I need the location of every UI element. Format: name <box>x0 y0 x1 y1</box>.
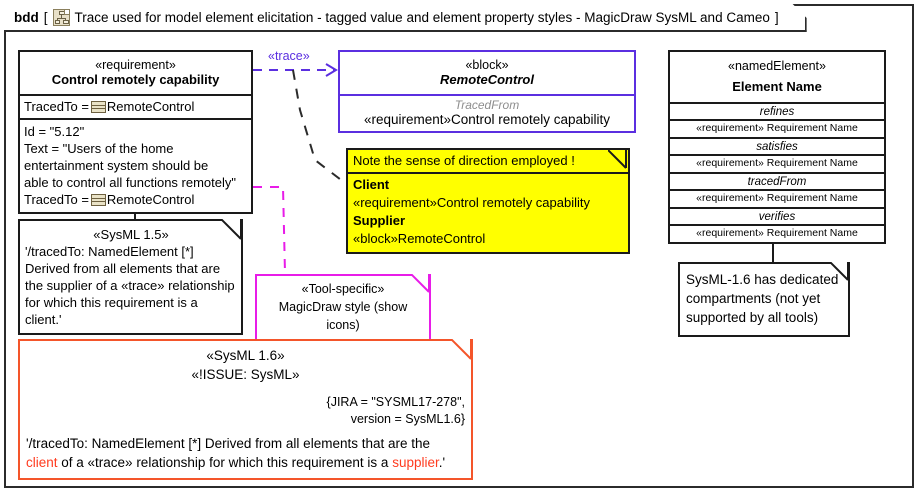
yellow-note[interactable]: Note the sense of direction employed ! C… <box>346 148 630 254</box>
note-fold-icon <box>411 274 431 294</box>
sysml15-note[interactable]: «SysML 1.5» '/tracedTo: NamedElement [*]… <box>18 219 243 335</box>
tool-note-body: «Tool-specific» MagicDraw style (show ic… <box>255 274 431 342</box>
note-fold-icon <box>221 219 243 241</box>
sysml15-line-3: the supplier of a «trace» relationship <box>25 277 237 294</box>
sysml16-title-2: «!ISSUE: SysML» <box>26 365 465 384</box>
compartment-name: satisfies <box>670 139 884 154</box>
sysml16-jira-line-2: version = SysML1.6} <box>26 411 465 428</box>
compartment-name: tracedFrom <box>670 174 884 189</box>
sysml15-line-2: Derived from all elements that are <box>25 260 237 277</box>
compartment-satisfies: satisfies «requirement» Requirement Name <box>670 139 884 174</box>
compartment-value: «requirement» Requirement Name <box>670 119 884 137</box>
dedicated-line-3: supported by all tools) <box>686 308 842 327</box>
block-name: RemoteControl <box>344 72 630 87</box>
tracedto-value: RemoteControl <box>107 99 194 114</box>
tracedto-value-2: RemoteControl <box>107 191 194 208</box>
requirement-text-line-3: able to control all functions remotely" <box>24 174 247 191</box>
requirement-compartment-properties: Id = "5.12" Text = "Users of the home en… <box>20 120 251 212</box>
compartment-name: refines <box>670 104 884 119</box>
sysml15-note-body: «SysML 1.5» '/tracedTo: NamedElement [*]… <box>18 219 243 335</box>
compartment-value: «requirement» Requirement Name <box>670 154 884 172</box>
compartment-value: «requirement» Requirement Name <box>670 224 884 242</box>
diagram-canvas: bdd [ Trace used for model element elici… <box>0 0 920 495</box>
sysml16-note-body: «SysML 1.6» «!ISSUE: SysML» {JIRA = "SYS… <box>18 339 473 480</box>
supplier-label: Supplier <box>353 212 623 230</box>
sysml16-jira-block: {JIRA = "SYSML17-278", version = SysML1.… <box>26 394 465 428</box>
tool-specific-note[interactable]: «Tool-specific» MagicDraw style (show ic… <box>255 274 431 342</box>
compartment-value: «requirement» Requirement Name <box>670 189 884 207</box>
bracket-open: [ <box>44 10 48 25</box>
sysml16-body-line-1: '/tracedTo: NamedElement [*] Derived fro… <box>26 434 465 453</box>
block-header: «block» RemoteControl <box>340 52 634 96</box>
sysml16-body-mid: of a «trace» relationship for which this… <box>58 455 393 470</box>
compartment-name: verifies <box>670 209 884 224</box>
note-fold-icon <box>830 262 850 282</box>
block-compartment-tracedfrom: TracedFrom «requirement»Control remotely… <box>340 96 634 131</box>
requirement-name: Control remotely capability <box>24 72 247 87</box>
compartment-tracedfrom: tracedFrom «requirement» Requirement Nam… <box>670 174 884 209</box>
sysml15-note-title: «SysML 1.5» <box>25 226 237 243</box>
requirement-text-line-2: entertainment system should be <box>24 157 247 174</box>
sysml16-client-word: client <box>26 455 58 470</box>
requirement-header: «requirement» Control remotely capabilit… <box>20 52 251 96</box>
dedicated-note-body: SysML-1.6 has dedicated compartments (no… <box>678 262 850 337</box>
yellow-note-body: Client «requirement»Control remotely cap… <box>348 174 628 252</box>
sysml16-jira-line-1: {JIRA = "SYSML17-278", <box>26 394 465 411</box>
sysml16-body-line-2: client of a «trace» relationship for whi… <box>26 453 465 472</box>
diagram-title: Trace used for model element elicitation… <box>75 10 770 25</box>
sysml16-supplier-word: supplier <box>392 455 439 470</box>
sysml16-title-1: «SysML 1.6» <box>26 346 465 365</box>
sysml16-note[interactable]: «SysML 1.6» «!ISSUE: SysML» {JIRA = "SYS… <box>18 339 473 480</box>
compartment-verifies: verifies «requirement» Requirement Name <box>670 209 884 242</box>
diagram-kind-label: bdd <box>14 10 39 25</box>
requirement-id: Id = "5.12" <box>24 123 247 140</box>
requirement-stereotype: «requirement» <box>24 58 247 72</box>
compartment-refines: refines «requirement» Requirement Name <box>670 104 884 139</box>
namedelement-element[interactable]: «namedElement» Element Name refines «req… <box>668 50 886 244</box>
bdd-tree-icon <box>53 9 70 26</box>
tracedto-label: TracedTo = <box>24 99 89 114</box>
block-stereotype: «block» <box>344 58 630 72</box>
note-fold-icon <box>451 339 473 361</box>
diagram-frame-header: bdd [ Trace used for model element elici… <box>4 4 807 32</box>
note-fold-icon <box>608 150 628 170</box>
sysml16-body-end: .' <box>439 455 445 470</box>
tool-note-title: «Tool-specific» <box>261 280 425 298</box>
yellow-note-title: Note the sense of direction employed ! <box>348 150 628 174</box>
tool-note-text: MagicDraw style (show icons) <box>261 298 425 334</box>
sysml15-line-4: for which this requirement is a client.' <box>25 294 237 328</box>
element-icon <box>91 194 106 206</box>
client-value: «requirement»Control remotely capability <box>353 194 623 212</box>
tracedto-label-2: TracedTo = <box>24 191 89 208</box>
trace-label: «trace» <box>268 49 310 63</box>
supplier-value: «block»RemoteControl <box>353 230 623 248</box>
block-element[interactable]: «block» RemoteControl TracedFrom «requir… <box>338 50 636 133</box>
requirement-element[interactable]: «requirement» Control remotely capabilit… <box>18 50 253 214</box>
sysml15-line-1: '/tracedTo: NamedElement [*] <box>25 243 237 260</box>
requirement-compartment-tracedto: TracedTo = RemoteControl <box>20 96 251 120</box>
tracedfrom-value: «requirement»Control remotely capability <box>344 112 630 127</box>
tracedfrom-label: TracedFrom <box>344 98 630 112</box>
namedelement-name: Element Name <box>674 73 880 94</box>
client-label: Client <box>353 176 623 194</box>
requirement-text-line-1: Text = "Users of the home <box>24 140 247 157</box>
namedelement-header: «namedElement» Element Name <box>670 52 884 104</box>
element-icon <box>91 101 106 113</box>
bracket-close: ] <box>775 10 779 25</box>
namedelement-stereotype: «namedElement» <box>674 59 880 73</box>
dedicated-line-2: compartments (not yet <box>686 289 842 308</box>
dedicated-line-1: SysML-1.6 has dedicated <box>686 270 842 289</box>
requirement-tracedto-row: TracedTo = RemoteControl <box>24 191 247 208</box>
dedicated-compartments-note[interactable]: SysML-1.6 has dedicated compartments (no… <box>678 262 850 337</box>
